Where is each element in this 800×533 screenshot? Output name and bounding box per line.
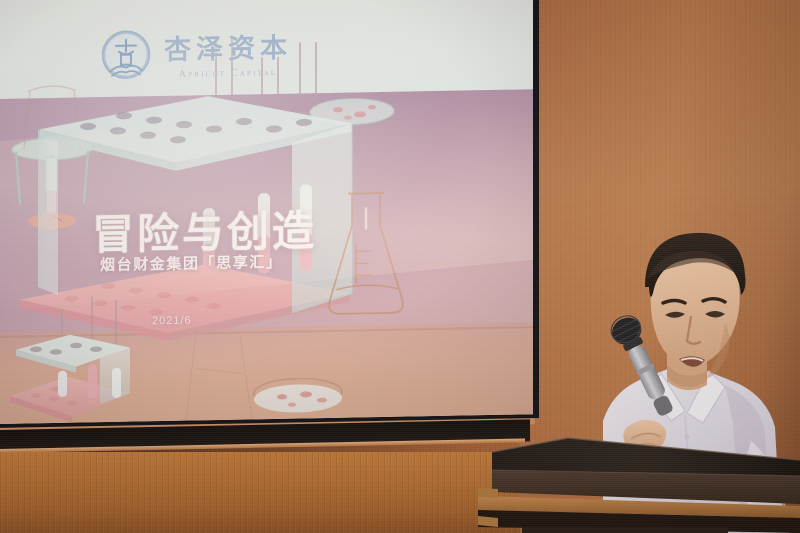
brand-text: 杏泽资本 Apricot Capital [164,26,292,80]
presentation-slide: 杏泽资本 Apricot Capital 冒险与创造 烟台财金集团「思享汇」 2… [0,0,533,424]
slide-subtitle: 烟台财金集团「思享汇」 [100,251,283,275]
wall-lower-panel [0,452,520,533]
apricot-seal-icon [98,25,154,84]
slide-floor-plane [0,322,533,424]
screenshot-root: 杏泽资本 Apricot Capital 冒险与创造 烟台财金集团「思享汇」 2… [0,0,800,533]
brand-name-en: Apricot Capital [179,67,278,80]
brand-logo: 杏泽资本 Apricot Capital [98,23,292,85]
brand-name-cn: 杏泽资本 [164,26,292,67]
slide-date: 2021/6 [152,314,192,327]
lectern [478,430,800,533]
projection-screen: 杏泽资本 Apricot Capital 冒险与创造 烟台财金集团「思享汇」 2… [0,0,533,424]
